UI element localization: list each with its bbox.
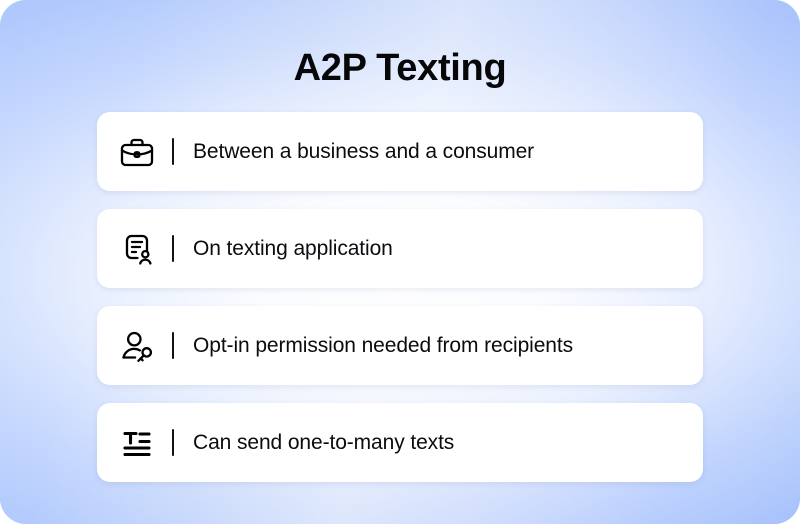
item-divider xyxy=(172,235,174,262)
item-divider xyxy=(172,332,174,359)
list-item[interactable]: Between a business and a consumer xyxy=(97,112,703,191)
item-divider xyxy=(172,429,174,456)
list-item-label: On texting application xyxy=(193,235,393,263)
list-item-label: Between a business and a consumer xyxy=(193,138,534,166)
list-item-label: Opt-in permission needed from recipients xyxy=(193,332,573,360)
page-title: A2P Texting xyxy=(0,44,800,92)
user-key-icon xyxy=(116,325,158,367)
item-divider xyxy=(172,138,174,165)
feature-list: Between a business and a consumer On tex… xyxy=(97,112,703,482)
text-lines-icon xyxy=(116,422,158,464)
list-item-label: Can send one-to-many texts xyxy=(193,429,454,457)
list-item[interactable]: Opt-in permission needed from recipients xyxy=(97,306,703,385)
panel-content: A2P Texting Between a business and a con… xyxy=(0,0,800,524)
briefcase-icon xyxy=(116,131,158,173)
document-user-icon xyxy=(116,228,158,270)
list-item[interactable]: Can send one-to-many texts xyxy=(97,403,703,482)
list-item[interactable]: On texting application xyxy=(97,209,703,288)
a2p-texting-panel: A2P Texting Between a business and a con… xyxy=(0,0,800,524)
